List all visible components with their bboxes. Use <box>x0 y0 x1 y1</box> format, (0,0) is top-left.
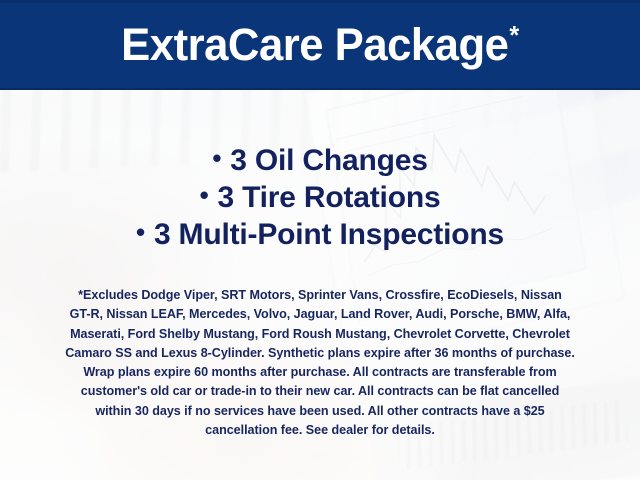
title-asterisk: * <box>509 20 519 50</box>
fineprint-line: Camaro SS and Lexus 8-Cylinder. Syntheti… <box>26 344 614 363</box>
page-title-text: ExtraCare Package <box>121 19 508 70</box>
fineprint-line: Maserati, Ford Shelby Mustang, Ford Rous… <box>26 325 614 344</box>
list-item-label: 3 Tire Rotations <box>217 181 440 214</box>
list-item: •3 Multi-Point Inspections <box>0 216 640 253</box>
fineprint-line: Wrap plans expire 60 months after purcha… <box>26 363 614 382</box>
header-banner: ExtraCare Package* <box>0 0 640 90</box>
fineprint-line: customer's old car or trade-in to their … <box>26 382 614 401</box>
fineprint-line: cancellation fee. See dealer for details… <box>26 421 614 440</box>
fineprint-line: GT-R, Nissan LEAF, Mercedes, Volvo, Jagu… <box>26 305 614 324</box>
list-item-label: 3 Multi-Point Inspections <box>154 218 504 251</box>
bullet-dot-icon: • <box>136 219 145 245</box>
fineprint-disclaimer: *Excludes Dodge Viper, SRT Motors, Sprin… <box>26 286 614 440</box>
list-item: •3 Oil Changes <box>0 142 640 179</box>
fineprint-line: within 30 days if no services have been … <box>26 402 614 421</box>
extracare-package-ad: ExtraCare Package* •3 Oil Changes •3 Tir… <box>0 0 640 480</box>
bullet-dot-icon: • <box>212 145 221 171</box>
fineprint-line: *Excludes Dodge Viper, SRT Motors, Sprin… <box>26 286 614 305</box>
list-item: •3 Tire Rotations <box>0 179 640 216</box>
offer-bullet-list: •3 Oil Changes •3 Tire Rotations •3 Mult… <box>0 142 640 253</box>
list-item-label: 3 Oil Changes <box>230 144 427 177</box>
page-title: ExtraCare Package* <box>121 22 519 70</box>
bullet-dot-icon: • <box>200 182 209 208</box>
